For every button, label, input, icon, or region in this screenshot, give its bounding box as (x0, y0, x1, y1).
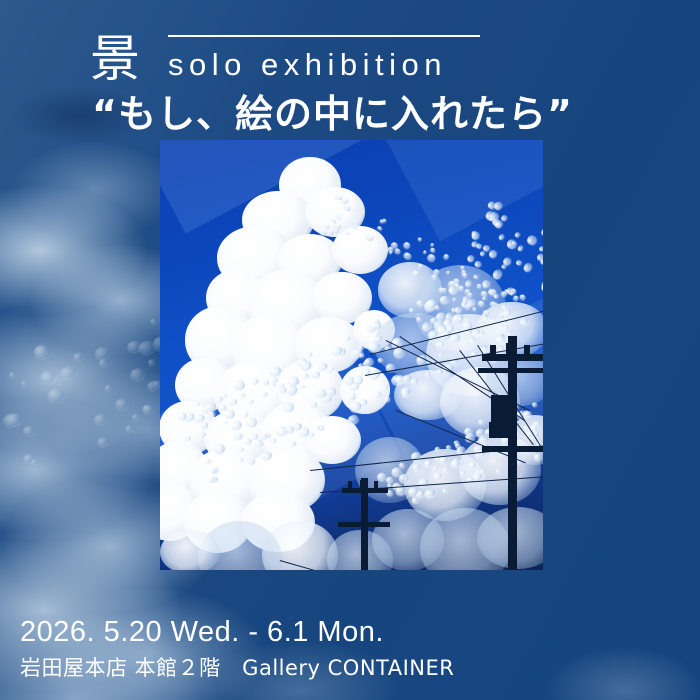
water-droplet (481, 295, 486, 300)
water-droplet (515, 259, 522, 266)
water-droplet (442, 466, 449, 473)
water-droplet (310, 401, 318, 409)
water-droplet (458, 317, 462, 321)
water-droplet (464, 279, 472, 287)
water-droplet (417, 237, 422, 242)
water-droplet (487, 288, 494, 295)
water-droplet (411, 270, 420, 279)
water-droplet (244, 416, 258, 429)
water-droplet (31, 459, 38, 466)
water-droplet (337, 216, 342, 220)
water-droplet (184, 435, 192, 442)
water-droplet (247, 399, 254, 406)
water-droplet (412, 463, 422, 473)
water-droplet (409, 450, 422, 463)
header-rule (168, 35, 480, 37)
water-droplet (195, 402, 200, 407)
utility-pole-insulator (506, 343, 512, 355)
poster-footer: 2026. 5.20 Wed. - 6.1 Mon. 岩田屋本店 本館２階 Ga… (20, 614, 454, 682)
water-droplet (301, 372, 309, 380)
water-droplet (352, 224, 358, 230)
water-droplet (204, 458, 212, 465)
utility-pole-insulator (348, 481, 352, 490)
water-droplet (212, 442, 226, 455)
water-droplet (467, 460, 478, 470)
water-droplet (493, 293, 499, 299)
water-droplet (538, 245, 543, 251)
water-droplet (430, 243, 434, 247)
water-droplet (199, 421, 209, 430)
water-droplet (532, 420, 541, 429)
water-droplet (403, 252, 413, 261)
water-droplet (447, 284, 459, 296)
artwork-image (160, 140, 543, 570)
utility-pole-insulator (490, 345, 496, 357)
water-droplet (433, 471, 443, 480)
water-droplet (365, 232, 375, 242)
exhibition-venue: 岩田屋本店 本館２階 Gallery CONTAINER (20, 654, 454, 682)
utility-pole-transformer (491, 395, 513, 425)
water-droplet (352, 375, 364, 386)
water-droplet (250, 377, 259, 386)
water-droplet (458, 469, 466, 476)
water-droplet (238, 457, 244, 462)
water-droplet (466, 254, 475, 263)
water-droplet (426, 253, 436, 263)
water-droplet (104, 384, 112, 392)
water-droplet (73, 352, 84, 362)
water-droplet (500, 215, 507, 222)
water-droplet (345, 230, 351, 235)
utility-pole-insulator (374, 481, 378, 490)
water-droplet (223, 409, 236, 421)
water-droplet (46, 386, 67, 404)
water-droplet (424, 371, 432, 378)
water-droplet (382, 385, 389, 392)
exhibition-type-label: solo exhibition (168, 46, 447, 84)
water-droplet (261, 391, 269, 399)
water-droplet (442, 487, 448, 493)
water-droplet (282, 401, 296, 414)
water-droplet (230, 419, 243, 432)
water-droplet (114, 397, 130, 412)
water-droplet (481, 279, 490, 289)
utility-pole-insulator (524, 345, 530, 357)
water-droplet (438, 352, 444, 357)
water-droplet (434, 321, 438, 326)
water-droplet (488, 248, 498, 258)
cloud-puff (160, 530, 219, 570)
water-droplet (125, 425, 134, 433)
water-droplet (432, 466, 438, 472)
water-droplet (473, 274, 479, 280)
water-droplet (352, 208, 356, 212)
water-droplet (239, 393, 246, 400)
water-droplet (477, 418, 484, 424)
water-droplet (464, 317, 469, 322)
water-droplet (92, 413, 108, 428)
water-droplet (416, 476, 430, 489)
water-droplet (150, 318, 157, 324)
utility-pole-insulator (360, 480, 364, 489)
water-droplet (418, 263, 424, 268)
water-droplet (299, 384, 306, 390)
water-droplet (223, 420, 228, 425)
water-droplet (233, 432, 244, 442)
water-droplet (377, 226, 383, 231)
water-droplet (517, 244, 524, 251)
water-droplet (21, 380, 28, 386)
utility-pole-crossarm (482, 446, 543, 452)
water-droplet (382, 239, 386, 243)
water-droplet (491, 268, 503, 281)
water-droplet (403, 241, 412, 250)
water-droplet (526, 234, 538, 246)
water-droplet (443, 253, 450, 260)
water-droplet (531, 401, 538, 408)
exhibition-poster: 景 solo exhibition “もし、絵の中に入れたら” 2026. 5.… (0, 0, 700, 700)
water-droplet (233, 379, 247, 392)
water-droplet (434, 446, 440, 451)
water-droplet (374, 391, 383, 399)
water-droplet (242, 411, 249, 418)
water-droplet (430, 247, 436, 252)
water-droplet (474, 260, 482, 268)
water-droplet (343, 203, 352, 212)
water-droplet (59, 365, 77, 381)
utility-pole-crossarm (338, 522, 390, 527)
water-droplet (505, 238, 517, 250)
water-droplet (421, 320, 433, 332)
water-droplet (271, 382, 276, 387)
water-droplet (22, 424, 37, 437)
water-droplet (494, 220, 504, 230)
water-droplet (514, 232, 519, 237)
water-droplet (358, 344, 365, 350)
water-droplet (131, 413, 140, 421)
water-droplet (268, 364, 283, 378)
water-droplet (262, 379, 270, 387)
water-droplet (422, 250, 426, 254)
water-droplet (238, 447, 246, 454)
water-droplet (306, 352, 313, 359)
water-droplet (310, 370, 321, 380)
artist-kanji: 景 (90, 30, 140, 88)
water-droplet (39, 370, 56, 385)
water-droplet (147, 359, 156, 367)
water-droplet (416, 299, 424, 306)
water-droplet (469, 336, 477, 344)
water-droplet (270, 438, 277, 445)
water-droplet (492, 316, 497, 321)
water-droplet (522, 262, 532, 273)
water-droplet (229, 398, 238, 407)
water-droplet (408, 307, 414, 313)
water-droplet (128, 366, 146, 382)
water-droplet (377, 358, 383, 363)
water-droplet (445, 444, 452, 450)
water-droplet (501, 264, 506, 269)
water-droplet (423, 488, 436, 500)
water-droplet (96, 436, 110, 448)
utility-pole-transformer (489, 422, 515, 438)
water-droplet (359, 353, 365, 358)
water-droplet (498, 233, 505, 240)
exhibition-subtitle: “もし、絵の中に入れたら” (92, 90, 573, 138)
water-droplet (344, 336, 351, 343)
water-droplet (492, 459, 498, 464)
utility-pole-crossarm (478, 368, 543, 373)
exhibition-dates: 2026. 5.20 Wed. - 6.1 Mon. (20, 614, 454, 650)
water-droplet (8, 371, 17, 379)
